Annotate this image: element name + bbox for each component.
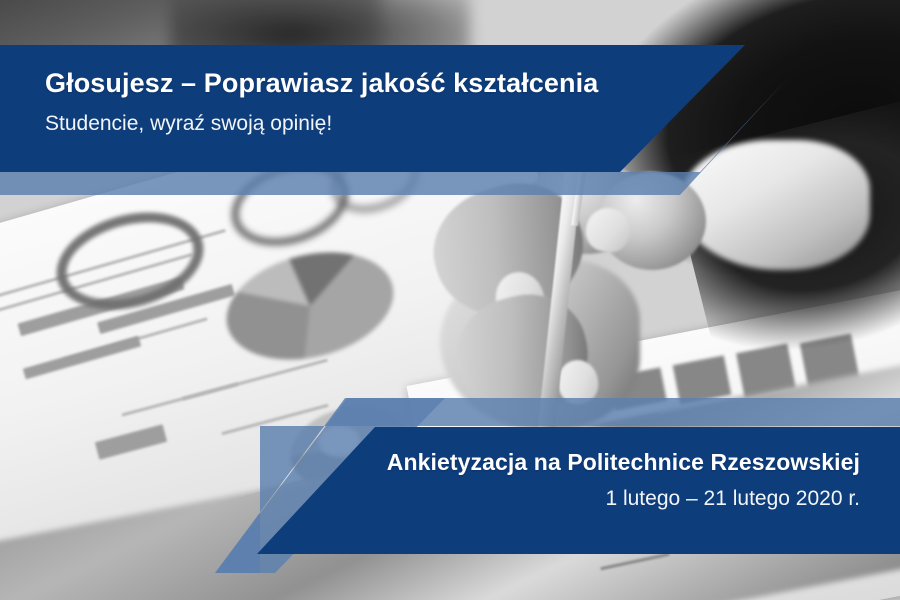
banner-subheadline: Studencie, wyraź swoją opinię! bbox=[45, 111, 665, 137]
event-title: Ankietyzacja na Politechnice Rzeszowskie… bbox=[240, 448, 860, 477]
top-banner-text: Głosujesz – Poprawiasz jakość kształceni… bbox=[45, 66, 665, 137]
event-date-range: 1 lutego – 21 lutego 2020 r. bbox=[240, 486, 860, 512]
promo-banner: Głosujesz – Poprawiasz jakość kształceni… bbox=[0, 0, 900, 600]
banner-headline: Głosujesz – Poprawiasz jakość kształceni… bbox=[45, 66, 665, 100]
bottom-banner-text: Ankietyzacja na Politechnice Rzeszowskie… bbox=[240, 448, 860, 512]
